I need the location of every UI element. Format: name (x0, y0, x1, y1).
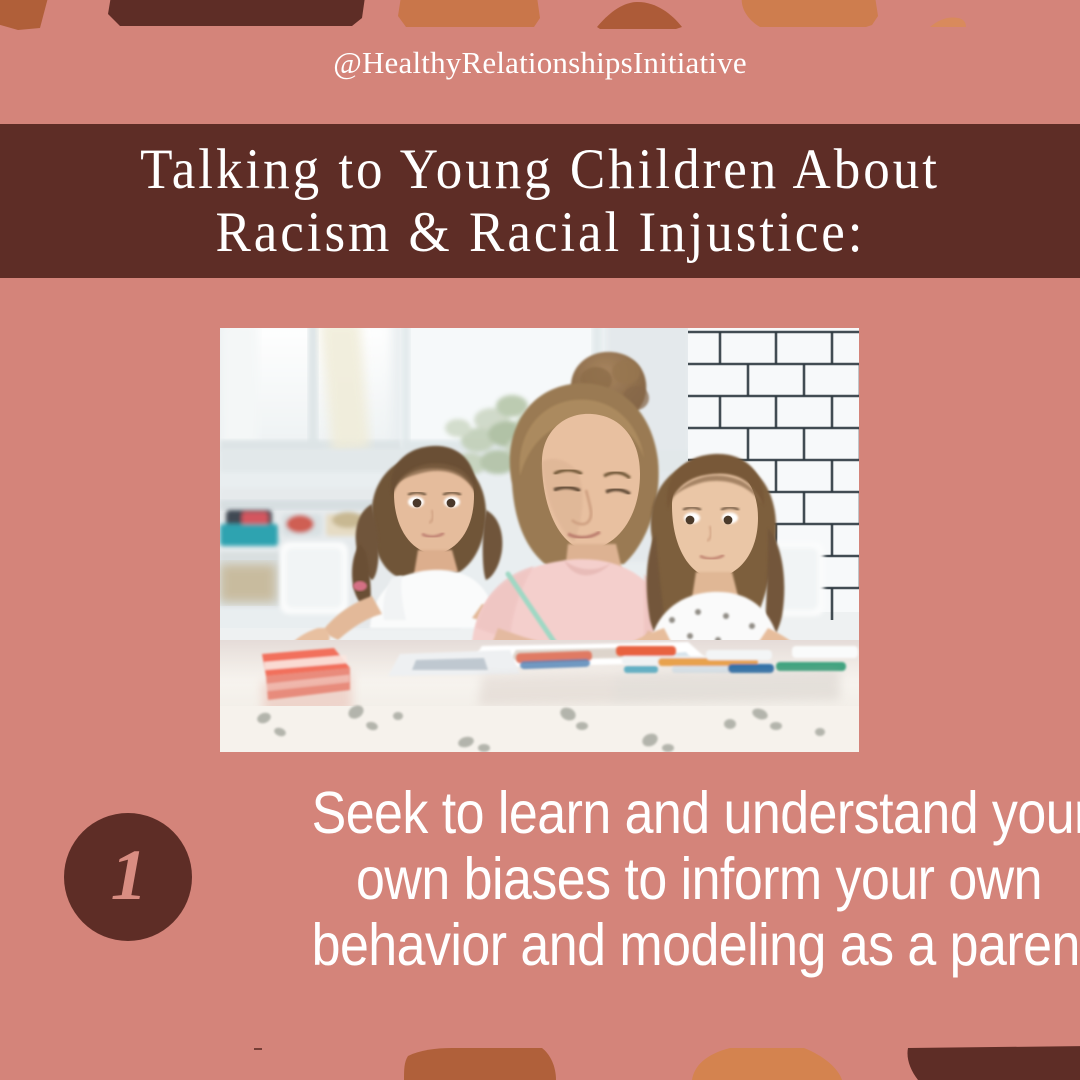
step-number-badge: 1 (64, 813, 192, 941)
step-number: 1 (110, 839, 146, 911)
blob-bottom-3 (907, 1046, 1080, 1080)
photo-illustration (220, 328, 859, 752)
blob-bottom-1 (404, 1048, 556, 1080)
blob-top-2 (108, 0, 366, 26)
blob-top-4 (597, 2, 682, 29)
social-post-canvas: @HealthyRelationshipsInitiative Talking … (0, 0, 1080, 1080)
account-handle: @HealthyRelationshipsInitiative (0, 44, 1080, 82)
blob-top-6 (930, 17, 966, 27)
tip-line-1: Seek to learn and understand your (312, 780, 1042, 846)
blob-top-1 (0, 0, 50, 30)
title-line-2: Racism & Racial Injustice: (215, 201, 865, 264)
blob-bottom-2 (692, 1048, 842, 1080)
blob-top-3 (398, 0, 540, 27)
title-line-1: Talking to Young Children About (140, 138, 940, 201)
tip-line-2: own biases to inform your own (312, 846, 1042, 912)
title-banner: Talking to Young Children About Racism &… (0, 124, 1080, 278)
blob-top-5 (742, 0, 878, 27)
family-drawing-photo (220, 328, 859, 752)
tip-line-3: behavior and modeling as a parent. (312, 912, 1042, 978)
blob-bottom-dot (254, 1048, 262, 1050)
bottom-decoration-group (0, 1020, 1080, 1080)
tip-body-text: Seek to learn and understand your own bi… (212, 780, 1042, 978)
